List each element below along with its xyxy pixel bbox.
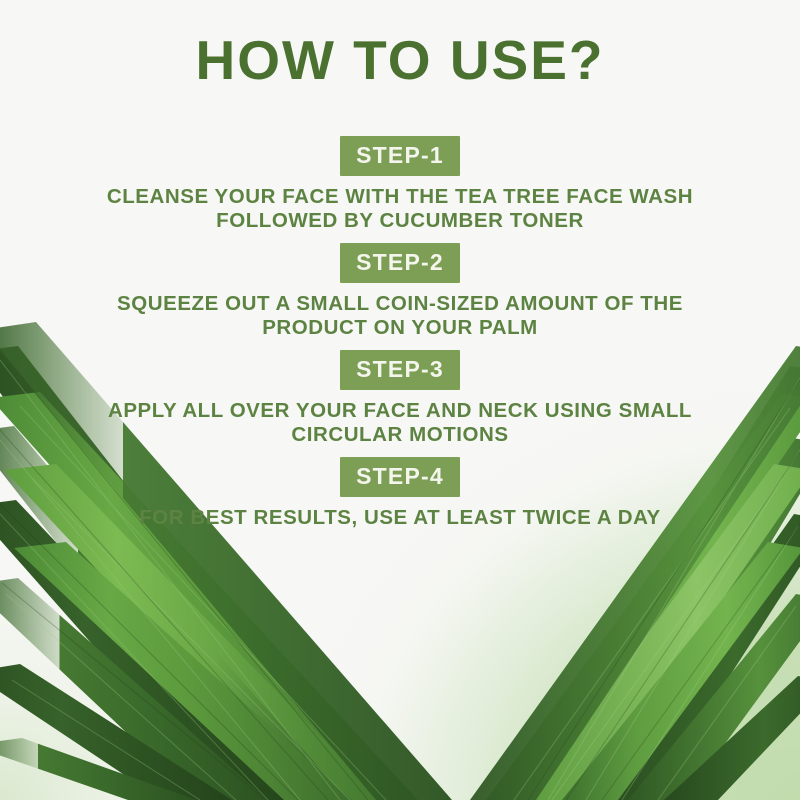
poster-content: HOW TO USE? STEP-1 CLEANSE YOUR FACE WIT…: [0, 0, 800, 800]
step-description-2: SQUEEZE OUT A SMALL COIN-SIZED AMOUNT OF…: [100, 292, 700, 340]
step-item: STEP-1 CLEANSE YOUR FACE WITH THE TEA TR…: [0, 136, 800, 233]
steps-list: STEP-1 CLEANSE YOUR FACE WITH THE TEA TR…: [0, 136, 800, 530]
step-badge-3: STEP-3: [340, 350, 460, 390]
step-description-3: APPLY ALL OVER YOUR FACE AND NECK USING …: [100, 399, 700, 447]
page-title: HOW TO USE?: [0, 30, 800, 90]
how-to-use-poster: HOW TO USE? STEP-1 CLEANSE YOUR FACE WIT…: [0, 0, 800, 800]
step-item: STEP-2 SQUEEZE OUT A SMALL COIN-SIZED AM…: [0, 243, 800, 340]
step-badge-4: STEP-4: [340, 457, 460, 497]
step-description-4: FOR BEST RESULTS, USE AT LEAST TWICE A D…: [100, 506, 700, 530]
step-item: STEP-4 FOR BEST RESULTS, USE AT LEAST TW…: [0, 457, 800, 530]
step-item: STEP-3 APPLY ALL OVER YOUR FACE AND NECK…: [0, 350, 800, 447]
step-badge-2: STEP-2: [340, 243, 460, 283]
step-badge-1: STEP-1: [340, 136, 460, 176]
step-description-1: CLEANSE YOUR FACE WITH THE TEA TREE FACE…: [100, 185, 700, 233]
